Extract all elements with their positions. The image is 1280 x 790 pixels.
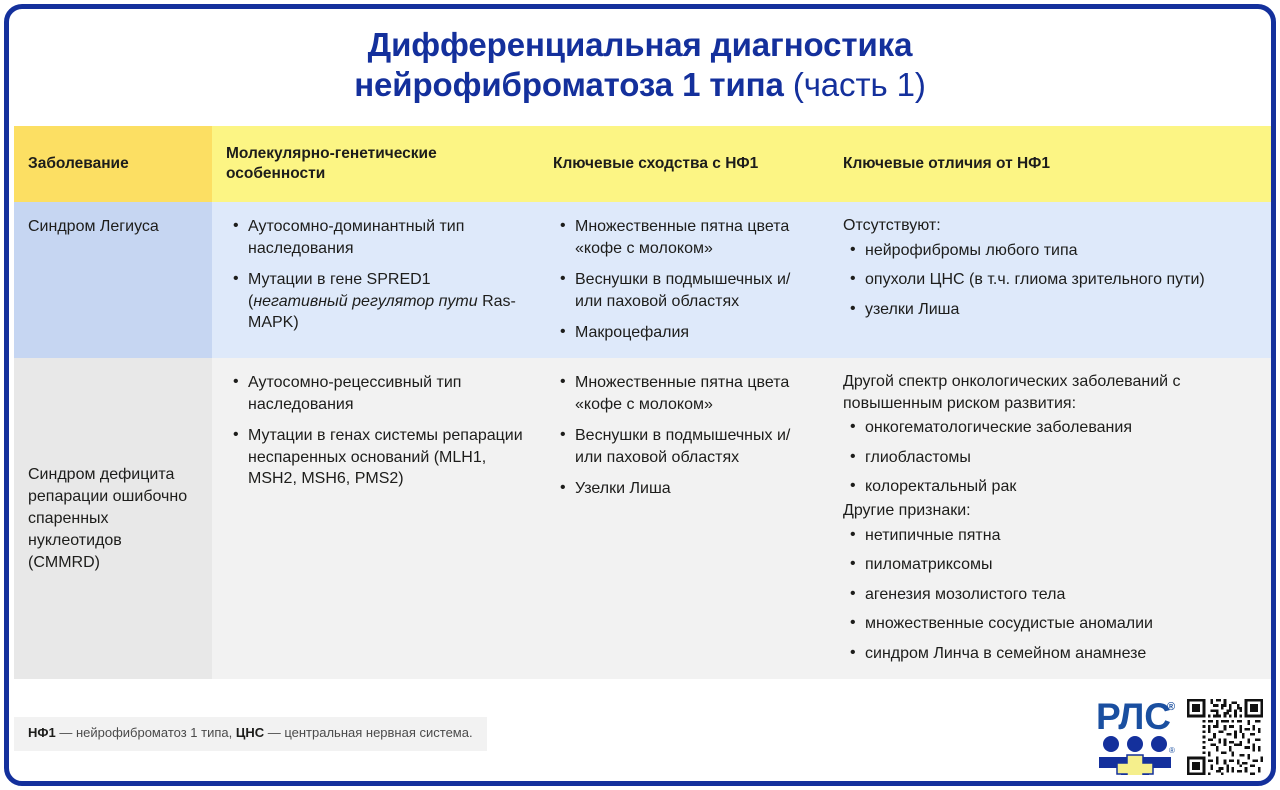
differences-lead-secondary: Другие признаки: (843, 500, 1262, 522)
abbr-nf1-expansion: — нейрофиброматоз 1 типа, (56, 725, 236, 740)
differences-lead: Отсутствуют: (843, 215, 1262, 237)
list-item: Мутации в генах системы репарации неспар… (248, 425, 525, 490)
qr-code[interactable] (1187, 699, 1263, 775)
differences-list-secondary: нетипичные пятна пиломатриксомы агенезия… (843, 525, 1262, 665)
list-item: множественные сосудистые аномалии (865, 613, 1262, 635)
list-item: нейрофибромы любого типа (865, 240, 1262, 262)
cell-genetics: Аутосомно-доминантный тип наследования М… (212, 202, 539, 358)
list-item: Множественные пятна цвета «кофе с молоко… (575, 216, 815, 259)
title-main: нейрофиброматоза 1 типа (354, 66, 784, 103)
cell-differences: Отсутствуют: нейрофибромы любого типа оп… (829, 202, 1276, 358)
list-item: агенезия мозолистого тела (865, 584, 1262, 606)
list-item: глиобластомы (865, 447, 1262, 469)
title-line-2: нейрофиброматоза 1 типа (часть 1) (49, 65, 1231, 105)
column-header-genetics: Молекулярно-генетические особенности (212, 126, 539, 202)
list-item: Множественные пятна цвета «кофе с молоко… (575, 372, 815, 415)
genetics-list: Аутосомно-доминантный тип наследования М… (226, 216, 525, 334)
poster-frame: Дифференциальная диагностика нейрофибром… (4, 4, 1276, 786)
list-item: онкогематологические заболевания (865, 417, 1262, 439)
list-item: Мутации в гене SPRED1 (негативный регуля… (248, 269, 525, 334)
list-item: пиломатриксомы (865, 554, 1262, 576)
rls-logo-icon: РЛС ® ® (1095, 697, 1179, 775)
abbr-cns-expansion: — центральная нервная система. (264, 725, 472, 740)
column-header-disease: Заболевание (14, 126, 212, 202)
table-header-row: Заболевание Молекулярно-генетические осо… (14, 126, 1276, 202)
table-row: Синдром дефицита репарации ошибочно спар… (14, 358, 1276, 679)
cell-disease-name: Синдром дефицита репарации ошибочно спар… (14, 358, 212, 679)
similarities-list: Множественные пятна цвета «кофе с молоко… (553, 372, 815, 500)
list-item: Макроцефалия (575, 322, 815, 344)
differences-list: нейрофибромы любого типа опухоли ЦНС (в … (843, 240, 1262, 321)
cell-similarities: Множественные пятна цвета «кофе с молоко… (539, 202, 829, 358)
registered-mark-small: ® (1169, 746, 1175, 755)
table-row: Синдром Легиуса Аутосомно-доминантный ти… (14, 202, 1276, 358)
brand-logo-area: РЛС ® ® (1095, 697, 1263, 775)
list-item: нетипичные пятна (865, 525, 1262, 547)
title-part-label: (часть 1) (784, 66, 926, 103)
similarities-list: Множественные пятна цвета «кофе с молоко… (553, 216, 815, 344)
list-item: Аутосомно-рецессивный тип наследования (248, 372, 525, 415)
figure-head-left (1103, 736, 1119, 752)
poster-root: Дифференциальная диагностика нейрофибром… (0, 0, 1280, 790)
list-item: опухоли ЦНС (в т.ч. глиома зрительного п… (865, 269, 1262, 291)
cell-similarities: Множественные пятна цвета «кофе с молоко… (539, 358, 829, 679)
column-header-similarities: Ключевые сходства с НФ1 (539, 126, 829, 202)
table-header: Заболевание Молекулярно-генетические осо… (14, 126, 1276, 202)
figure-head-right (1151, 736, 1167, 752)
list-item: Веснушки в подмышечных и/или паховой обл… (575, 425, 815, 468)
differences-list: онкогематологические заболевания глиобла… (843, 417, 1262, 498)
list-item: синдром Линча в семейном анамнезе (865, 643, 1262, 665)
rls-logo: РЛС ® ® (1095, 697, 1179, 775)
footnote-abbreviations: НФ1 — нейрофиброматоз 1 типа, ЦНС — цент… (14, 717, 487, 751)
table-body: Синдром Легиуса Аутосомно-доминантный ти… (14, 202, 1276, 679)
cell-differences: Другой спектр онкологических заболеваний… (829, 358, 1276, 679)
registered-mark: ® (1167, 701, 1175, 713)
differences-lead: Другой спектр онкологических заболеваний… (843, 371, 1262, 414)
rls-wordmark: РЛС (1096, 697, 1171, 737)
abbr-nf1: НФ1 (28, 725, 56, 740)
differential-diagnosis-table: Заболевание Молекулярно-генетические осо… (14, 126, 1276, 679)
cell-disease-name: Синдром Легиуса (14, 202, 212, 358)
page-title: Дифференциальная диагностика нейрофибром… (9, 9, 1271, 116)
title-line-1: Дифференциальная диагностика (49, 25, 1231, 65)
list-item: Узелки Лиша (575, 478, 815, 500)
list-item: узелки Лиша (865, 299, 1262, 321)
column-header-differences: Ключевые отличия от НФ1 (829, 126, 1276, 202)
list-item: колоректальный рак (865, 476, 1262, 498)
genetics-list: Аутосомно-рецессивный тип наследования М… (226, 372, 525, 490)
list-item: Аутосомно-доминантный тип наследования (248, 216, 525, 259)
cell-genetics: Аутосомно-рецессивный тип наследования М… (212, 358, 539, 679)
figure-head-center (1127, 736, 1143, 752)
list-item: Веснушки в подмышечных и/или паховой обл… (575, 269, 815, 312)
abbr-cns: ЦНС (236, 725, 264, 740)
gene-text-italic: негативный регулятор пути (253, 293, 477, 310)
